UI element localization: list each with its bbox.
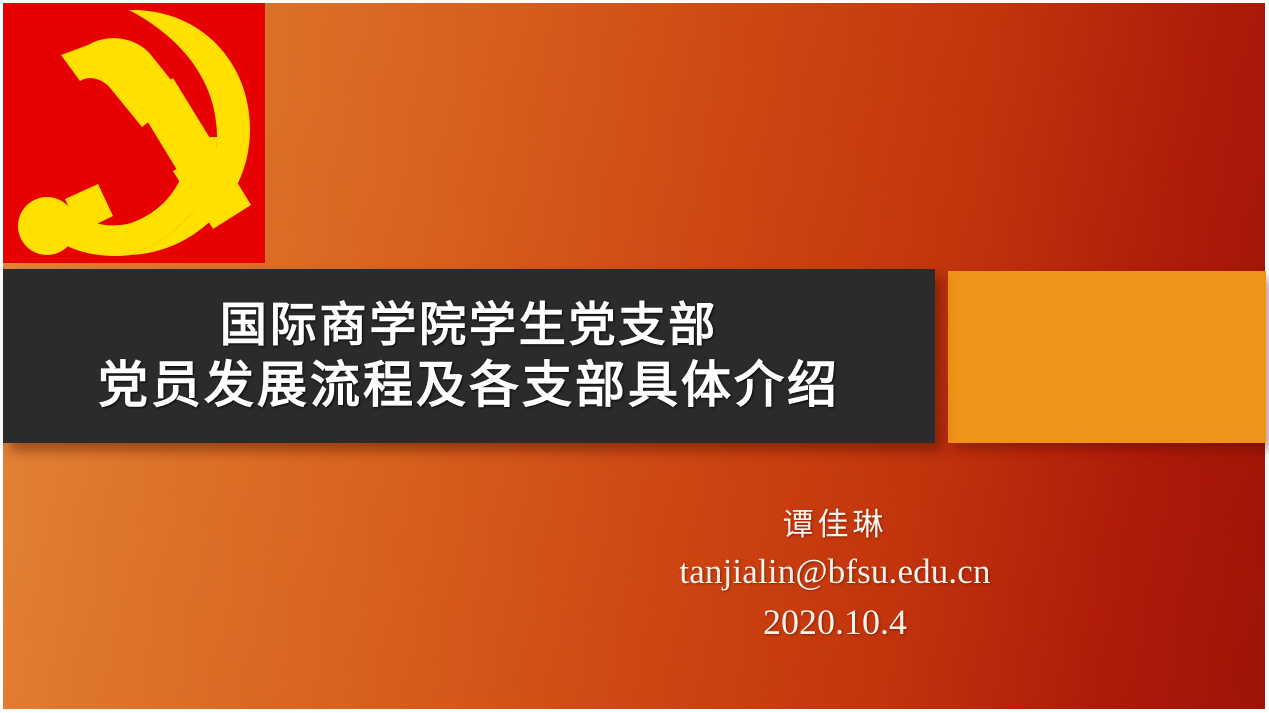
presenter-info: 谭佳琳 tanjialin@bfsu.edu.cn 2020.10.4 [600, 505, 1070, 646]
title-line-1: 国际商学院学生党支部 [220, 298, 718, 353]
presentation-date: 2020.10.4 [600, 599, 1070, 646]
presenter-name: 谭佳琳 [600, 505, 1070, 545]
cpc-emblem-icon [3, 3, 265, 263]
presenter-email: tanjialin@bfsu.edu.cn [600, 549, 1070, 595]
title-band: 国际商学院学生党支部 党员发展流程及各支部具体介绍 [3, 269, 935, 443]
title-slide: 国际商学院学生党支部 党员发展流程及各支部具体介绍 谭佳琳 tanjialin@… [0, 0, 1269, 713]
emblem-block [3, 3, 265, 263]
title-line-2: 党员发展流程及各支部具体介绍 [98, 355, 840, 414]
accent-rectangle [948, 271, 1266, 443]
